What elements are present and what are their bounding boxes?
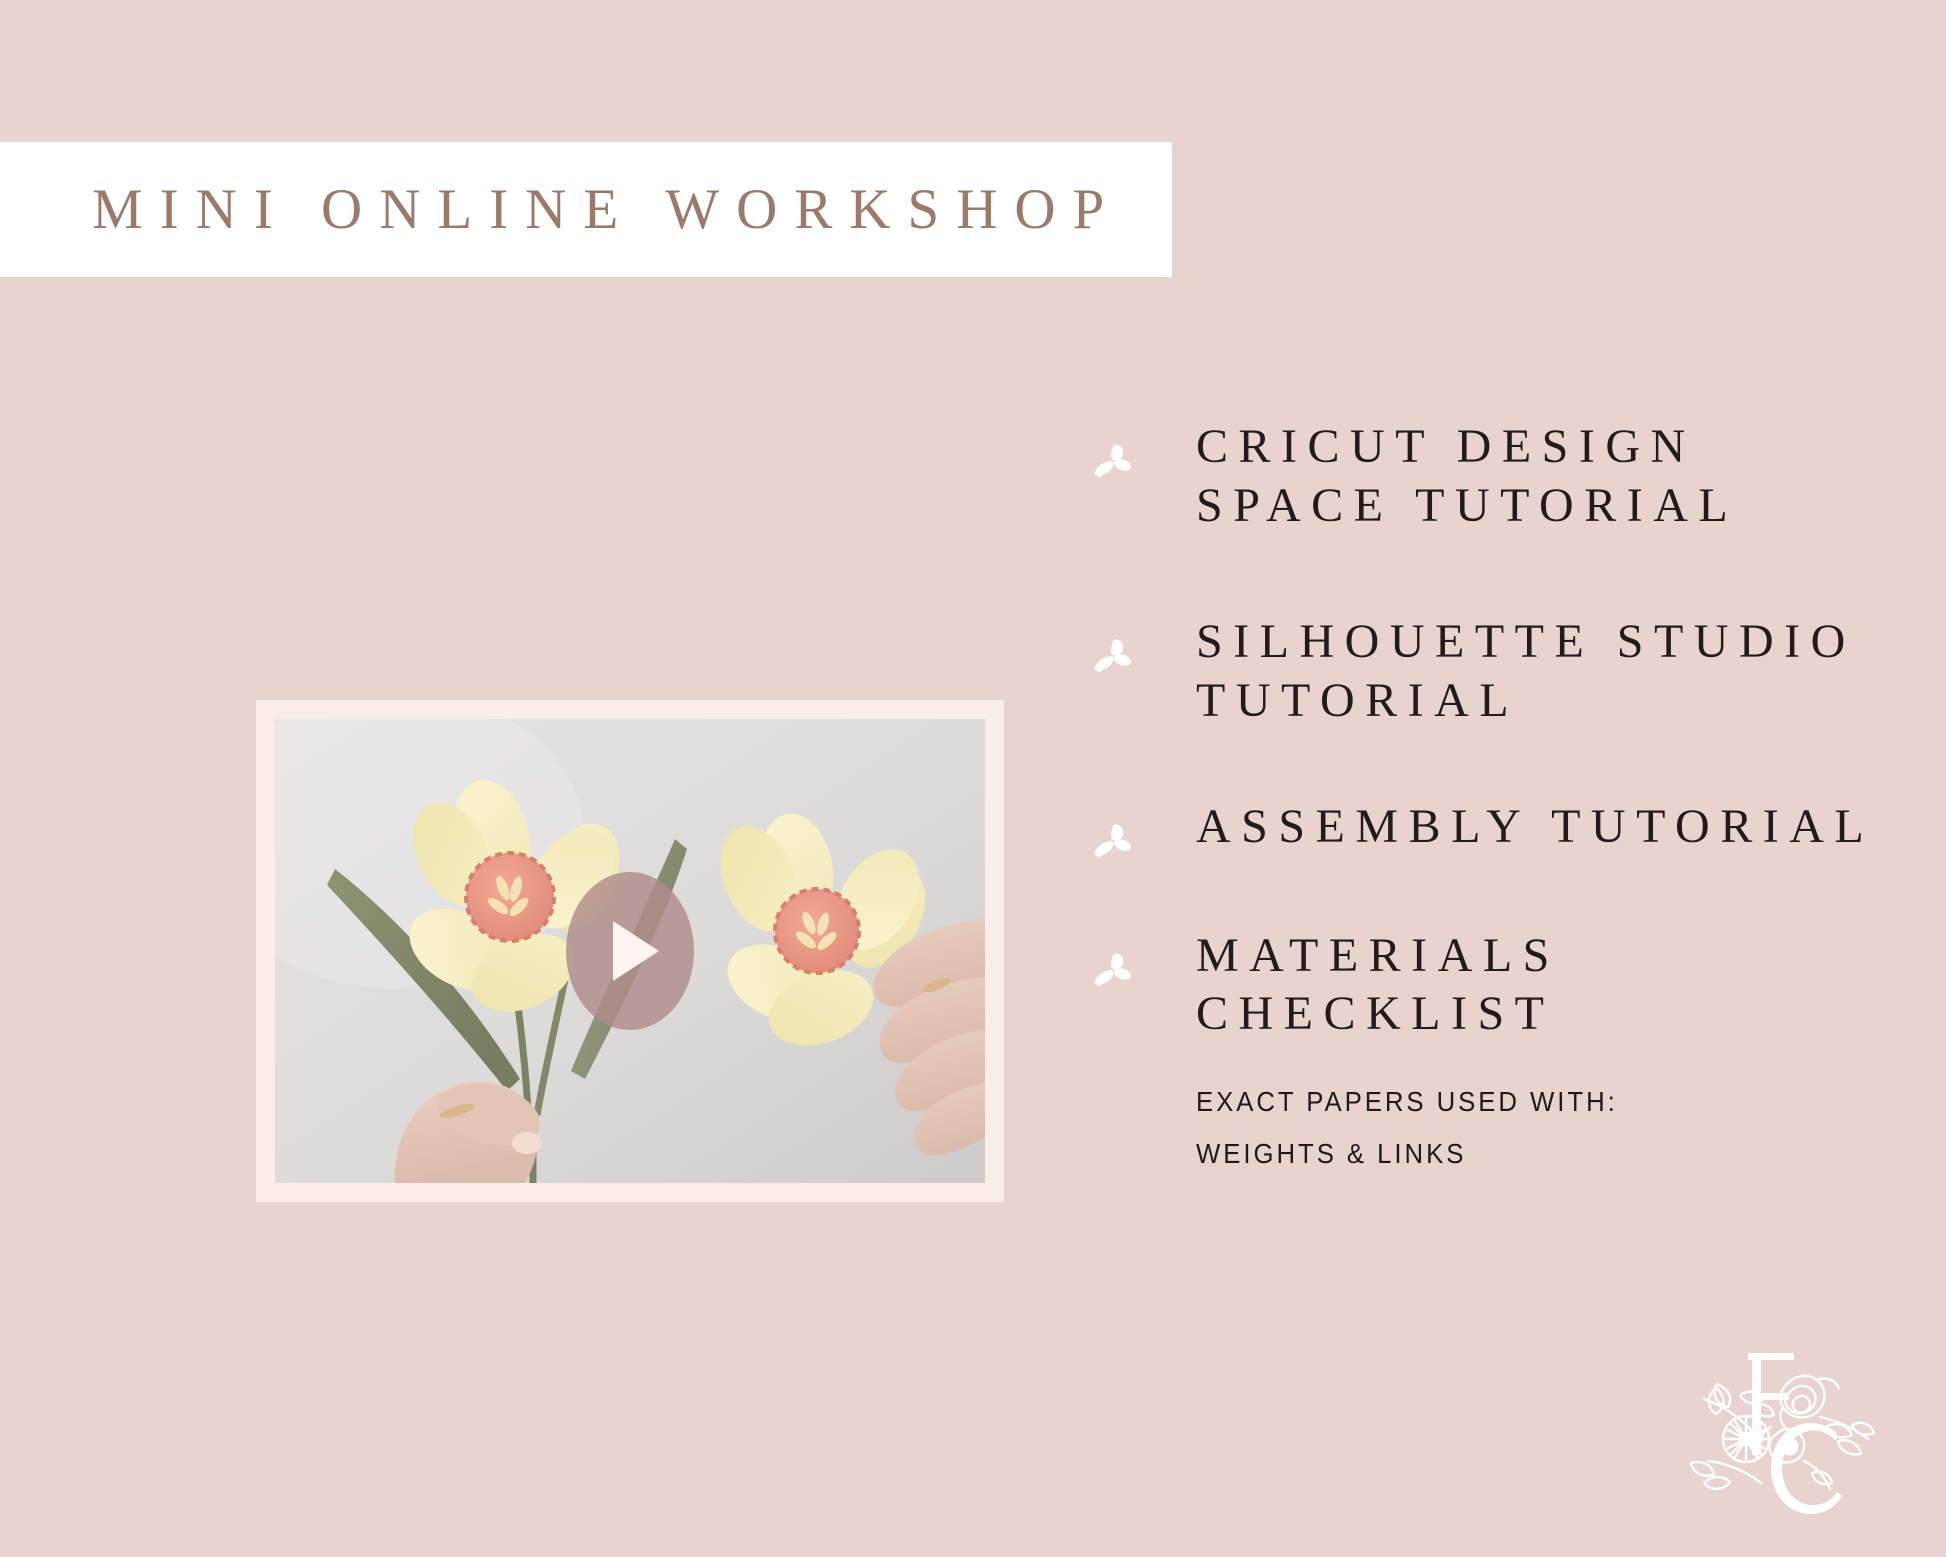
play-triangle-icon — [613, 921, 659, 981]
feature-label: SILHOUETTE STUDIO TUTORIAL — [1196, 613, 1880, 730]
video-preview-image[interactable] — [275, 719, 985, 1183]
feature-item-silhouette-studio[interactable]: SILHOUETTE STUDIO TUTORIAL — [1090, 613, 1880, 730]
leaf-sprig-icon — [1090, 820, 1134, 864]
banner-ribbon: MINI ONLINE WORKSHOP — [0, 142, 1172, 277]
feature-item-assembly-tutorial[interactable]: ASSEMBLY TUTORIAL — [1090, 798, 1880, 857]
leaf-sprig-icon — [1090, 440, 1134, 484]
feature-item-materials-checklist[interactable]: MATERIALS CHECKLIST EXACT PAPERS USED WI… — [1090, 927, 1880, 1180]
feature-list: CRICUT DESIGN SPACE TUTORIAL SILHOUETTE … — [1090, 418, 1880, 1179]
banner-title: MINI ONLINE WORKSHOP — [92, 181, 1121, 238]
leaf-sprig-icon — [1090, 949, 1134, 993]
subnote-line-1: EXACT PAPERS USED WITH: — [1196, 1076, 1825, 1128]
leaf-sprig-icon — [1090, 635, 1134, 679]
subnote-line-2: WEIGHTS & LINKS — [1196, 1128, 1825, 1180]
feature-label: ASSEMBLY TUTORIAL — [1196, 798, 1880, 857]
video-thumbnail-card[interactable] — [256, 700, 1004, 1202]
floral-monogram-fc-logo: F C — [1686, 1329, 1886, 1529]
feature-label: CRICUT DESIGN SPACE TUTORIAL — [1196, 418, 1880, 535]
feature-label: MATERIALS CHECKLIST — [1196, 927, 1880, 1044]
workshop-promo-page: MINI ONLINE WORKSHOP — [0, 0, 1946, 1557]
play-button[interactable] — [566, 872, 694, 1030]
feature-item-cricut-design-space[interactable]: CRICUT DESIGN SPACE TUTORIAL — [1090, 418, 1880, 535]
materials-subnote: EXACT PAPERS USED WITH: WEIGHTS & LINKS — [1196, 1076, 1880, 1180]
